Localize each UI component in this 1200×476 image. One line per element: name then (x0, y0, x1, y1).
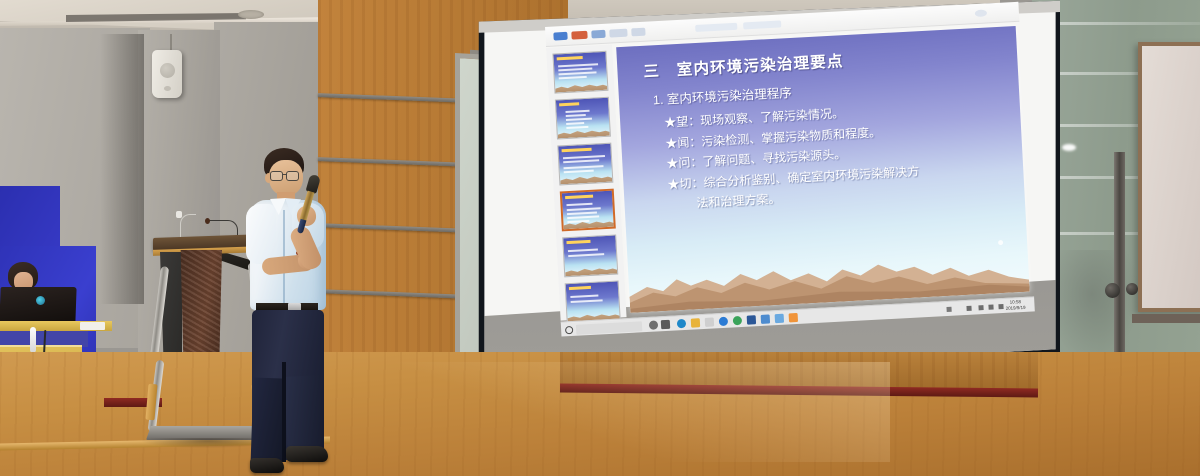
floor-highlight (330, 362, 890, 462)
task-view-icon[interactable] (661, 320, 670, 329)
whiteboard-adjust-knob[interactable] (1105, 283, 1120, 298)
lecture-hall-photo: 三 室内环境污染治理要点 1. 室内环境污染治理程序 ★望：现场观察、了解污染情… (0, 0, 1200, 476)
powerpoint-window[interactable]: 三 室内环境污染治理要点 1. 室内环境污染治理程序 ★望：现场观察、了解污染情… (545, 2, 1035, 337)
slide-thumbnail[interactable] (562, 235, 618, 278)
column-shadow (100, 34, 144, 304)
chevron-up-icon[interactable] (978, 305, 983, 310)
start-icon[interactable] (565, 325, 573, 333)
ribbon-group[interactable] (695, 23, 737, 32)
glasses-bridge (282, 174, 287, 175)
cortana-icon[interactable] (649, 320, 658, 329)
shirt-sleeve-left (246, 204, 276, 264)
presenter (236, 148, 366, 476)
whiteboard-adjust-knob[interactable] (1126, 283, 1138, 295)
search-input[interactable] (576, 321, 642, 334)
slide-subtitle: 1. 室内环境污染治理程序 (652, 82, 792, 108)
powerpoint-icon[interactable] (775, 314, 784, 323)
slide-title: 三 室内环境污染治理要点 (643, 49, 844, 82)
ribbon-tab-chip[interactable] (631, 28, 645, 37)
usb-adapter (30, 327, 36, 353)
glass-reflection (1060, 250, 1140, 360)
taskbar-clock[interactable]: 10:58 2019/9/19 (1000, 299, 1031, 313)
pen-icon[interactable] (966, 306, 971, 311)
ribbon-tab-chip[interactable] (571, 31, 587, 40)
device-box (80, 322, 105, 330)
ribbon-tab-chip[interactable] (609, 29, 627, 38)
file-explorer-icon[interactable] (691, 318, 700, 327)
network-icon[interactable] (988, 305, 993, 310)
laptop-logo-icon (36, 296, 45, 305)
slide-thumbnail[interactable] (557, 143, 613, 186)
slide-bullet-list: ★望：现场观察、了解污染情况。 ★闻：污染检测、掌握污染物质和程度。 ★问：了解… (664, 95, 1009, 215)
slide-thumbnail[interactable] (552, 51, 608, 94)
wechat-icon[interactable] (733, 316, 742, 325)
trouser-seam (282, 362, 286, 462)
presenter-shoe-right (286, 446, 328, 462)
wall-speaker-icon (152, 50, 182, 98)
store-icon[interactable] (705, 317, 714, 326)
laptop (0, 287, 77, 323)
ribbon-group[interactable] (743, 20, 781, 29)
mail-icon[interactable] (719, 317, 728, 326)
excel-icon[interactable] (761, 314, 770, 323)
ribbon-tab-chip[interactable] (591, 30, 605, 39)
presenter-shoe-left (250, 458, 284, 473)
podium-microphone-capsule (205, 218, 210, 224)
slide-thumbnail[interactable] (565, 280, 621, 323)
recessed-light-icon (238, 10, 264, 19)
notes-icon[interactable] (789, 313, 798, 322)
glass-reflection-glint (1062, 144, 1076, 151)
ribbon-help-icon[interactable] (975, 9, 987, 17)
whiteboard (1138, 42, 1200, 312)
ribbon-tab-chip[interactable] (553, 32, 567, 41)
podium-microphone-capsule (176, 211, 182, 218)
slide-sun-dot (998, 240, 1003, 245)
slide-thumbnail-selected[interactable] (560, 189, 616, 232)
edge-icon[interactable] (677, 319, 686, 328)
slide-thumbnail-pane[interactable] (546, 44, 626, 320)
current-slide[interactable]: 三 室内环境污染治理要点 1. 室内环境污染治理程序 ★望：现场观察、了解污染情… (616, 26, 1030, 313)
presenter-leg-left (250, 377, 285, 466)
slide-thumbnail[interactable] (555, 97, 611, 140)
clock-date: 2019/9/19 (1000, 305, 1030, 313)
action-center-icon[interactable] (946, 307, 951, 312)
whiteboard-tray (1132, 314, 1200, 323)
word-icon[interactable] (747, 315, 756, 324)
